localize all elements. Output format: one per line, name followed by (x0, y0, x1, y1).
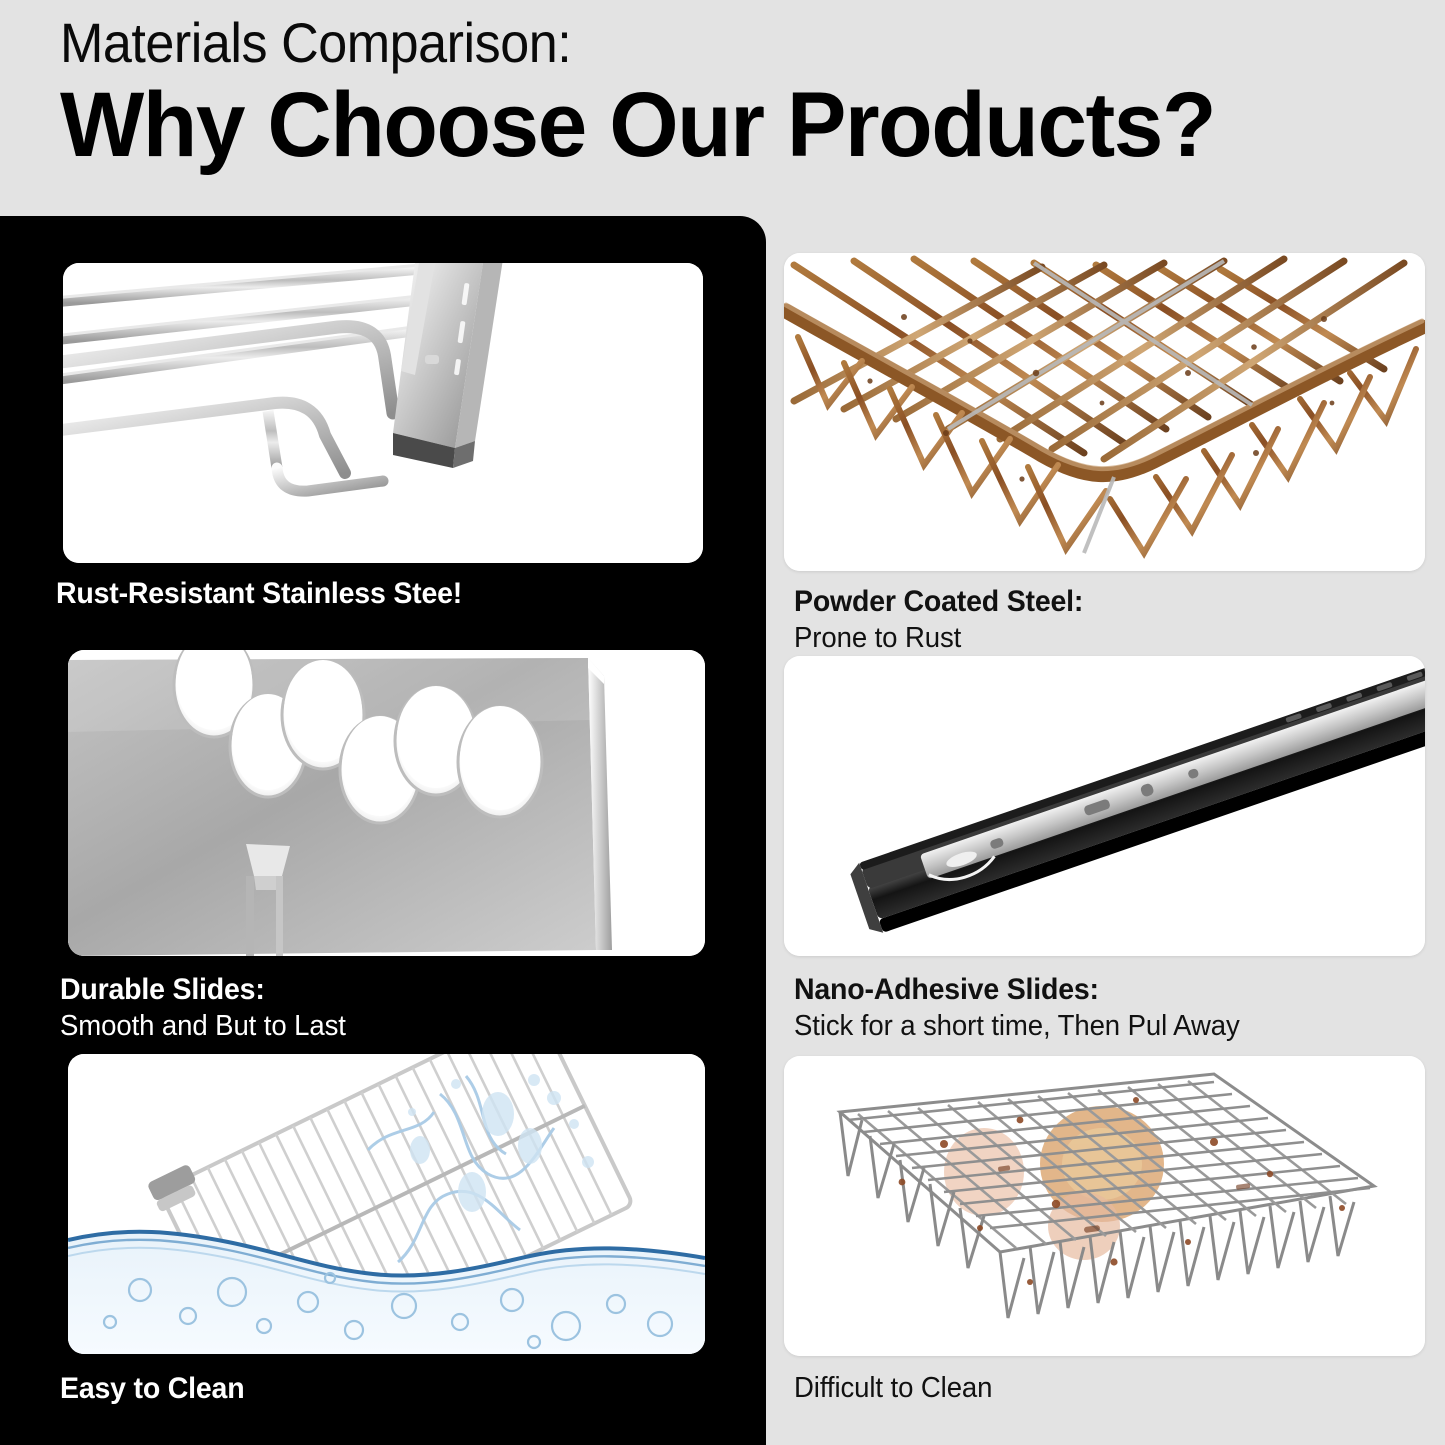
card-difficult-to-clean (784, 1056, 1425, 1356)
card-durable-slides (68, 650, 705, 956)
perforated-panel-icon (68, 650, 705, 956)
caption-rust-resistant: Rust-Resistant Stainless Stee! (56, 576, 736, 613)
image-stainless-rack (63, 263, 703, 563)
header: Materials Comparison: Why Choose Our Pro… (60, 14, 1420, 171)
image-drawer-slide (784, 656, 1425, 956)
page-title: Why Choose Our Products? (60, 79, 1379, 171)
caption-easy-to-clean: Easy to Clean (60, 1371, 740, 1408)
caption-powder-coated: Powder Coated Steel: Prone to Rust (794, 584, 1434, 656)
caption-subtitle: Stick for a short time, Then Pul Away (794, 1009, 1412, 1044)
card-easy-to-clean (68, 1054, 705, 1354)
image-stained-basket (784, 1056, 1425, 1356)
image-water-splash (68, 1054, 705, 1354)
caption-title: Nano-Adhesive Slides: (794, 972, 1412, 1009)
caption-nano-adhesive: Nano-Adhesive Slides: Stick for a short … (794, 972, 1444, 1044)
caption-title: Durable Slides: (60, 972, 706, 1009)
stained-grid-basket-icon (784, 1056, 1425, 1356)
caption-durable-slides: Durable Slides: Smooth and But to Last (60, 972, 740, 1044)
caption-difficult-to-clean: Difficult to Clean (794, 1371, 1434, 1406)
stainless-rack-icon (63, 263, 703, 563)
caption-title: Powder Coated Steel: (794, 584, 1402, 621)
caption-title: Rust-Resistant Stainless Stee! (56, 576, 702, 613)
caption-subtitle: Smooth and But to Last (60, 1009, 706, 1044)
competitor-products-column: Powder Coated Steel: Prone to Rust (766, 216, 1445, 1445)
water-splash-rack-icon (68, 1054, 705, 1354)
our-products-column: Rust-Resistant Stainless Stee! (0, 216, 766, 1445)
card-powder-coated (784, 253, 1425, 571)
drawer-slide-icon (784, 656, 1425, 956)
card-rust-resistant (63, 263, 703, 563)
card-nano-adhesive (784, 656, 1425, 956)
image-perforated-slide (68, 650, 705, 956)
header-subtitle: Materials Comparison: (60, 14, 1325, 73)
image-rusty-mesh (784, 253, 1425, 571)
caption-title: Difficult to Clean (794, 1371, 1402, 1406)
infographic-page: Materials Comparison: Why Choose Our Pro… (0, 0, 1445, 1445)
caption-title: Easy to Clean (60, 1371, 706, 1408)
rusty-wire-mesh-icon (784, 253, 1425, 571)
caption-subtitle: Prone to Rust (794, 621, 1402, 656)
